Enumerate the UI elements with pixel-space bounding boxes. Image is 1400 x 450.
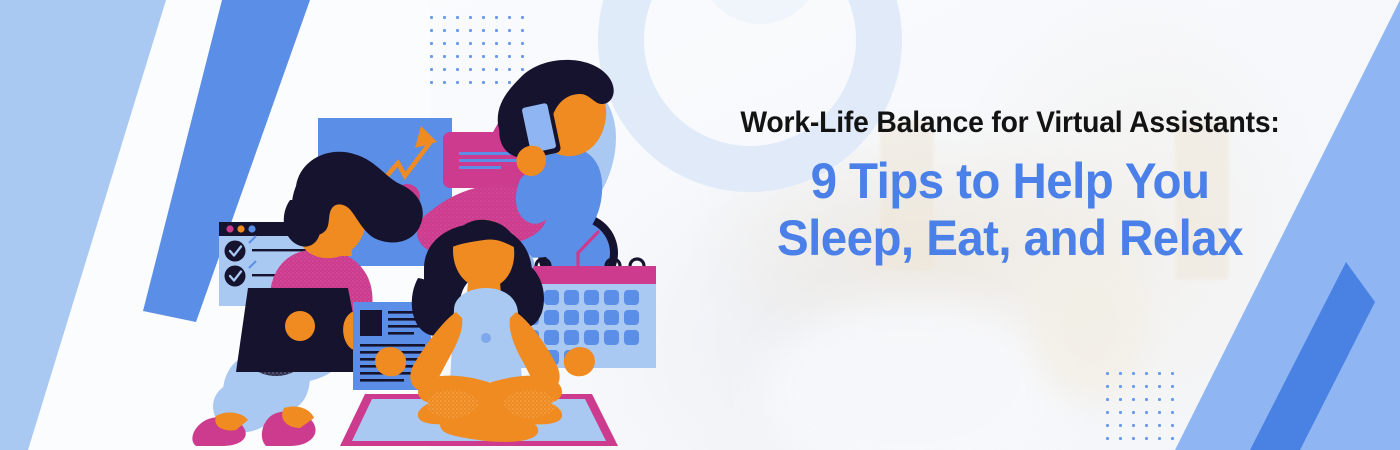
window-dot-max — [248, 225, 255, 232]
photo-blur-hand — [1030, 250, 1150, 400]
people-illustration — [0, 0, 700, 450]
headline-block: Work-Life Balance for Virtual Assistants… — [660, 108, 1360, 267]
headline-line-1: Work-Life Balance for Virtual Assistants… — [674, 108, 1346, 139]
headline-line-3: Sleep, Eat, and Relax — [678, 210, 1343, 267]
blog-header-banner: Work-Life Balance for Virtual Assistants… — [0, 0, 1400, 450]
window-dot-close — [226, 225, 233, 232]
headline-line-2: 9 Tips to Help You — [678, 153, 1343, 210]
window-dot-min — [237, 225, 244, 232]
